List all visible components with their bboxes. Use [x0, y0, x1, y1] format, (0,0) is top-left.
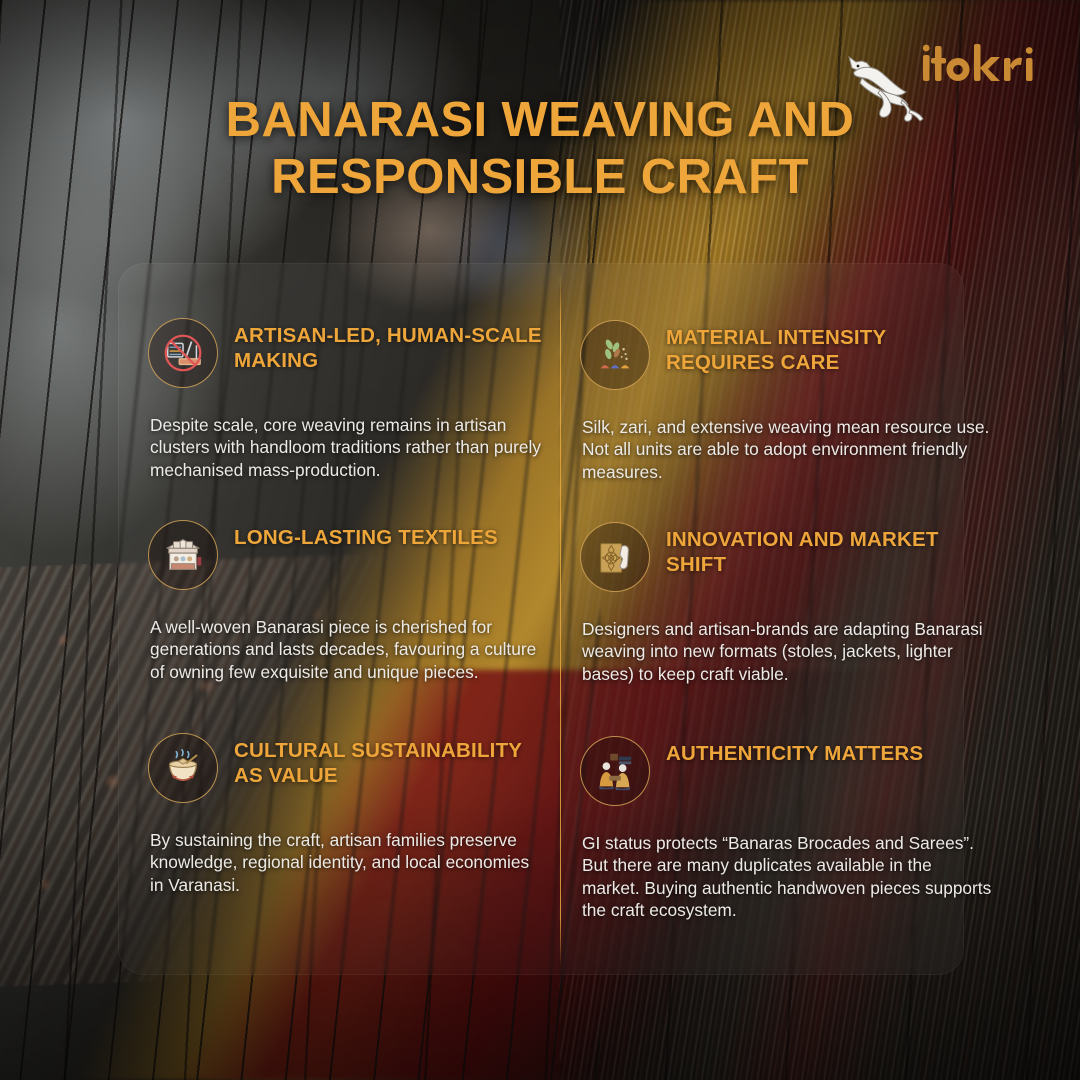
card-title: ARTISAN-LED, HUMAN-SCALE MAKING: [234, 324, 548, 374]
card-title: AUTHENTICITY MATTERS: [666, 742, 923, 767]
card-title: CULTURAL SUSTAINABILITY AS VALUE: [234, 739, 548, 789]
card-authenticity-matters: AUTHENTICITY MATTERS GI status protects …: [580, 736, 992, 922]
card-artisan-led: ARTISAN-LED, HUMAN-SCALE MAKING Despite …: [148, 318, 548, 481]
card-header: LONG-LASTING TEXTILES: [148, 520, 548, 590]
card-innovation-market-shift: INNOVATION AND MARKET SHIFT Designers an…: [580, 522, 992, 685]
card-header: AUTHENTICITY MATTERS: [580, 736, 992, 806]
card-title: LONG-LASTING TEXTILES: [234, 526, 498, 551]
card-body: GI status protects “Banaras Brocades and…: [582, 832, 994, 922]
card-header: MATERIAL INTENSITY REQUIRES CARE: [580, 320, 992, 390]
card-body: Silk, zari, and extensive weaving mean r…: [582, 416, 994, 483]
steaming-dye-pot-icon: [148, 733, 218, 803]
card-header: CULTURAL SUSTAINABILITY AS VALUE: [148, 733, 548, 803]
card-body: Designers and artisan-brands are adaptin…: [582, 618, 994, 685]
card-cultural-sustainability: CULTURAL SUSTAINABILITY AS VALUE By sust…: [148, 733, 548, 896]
infographic-poster: BANARASI WEAVING AND RESPONSIBLE CRAFT: [0, 0, 1080, 1080]
no-machine-loom-icon: [148, 318, 218, 388]
card-body: By sustaining the craft, artisan familie…: [150, 829, 546, 896]
cards-grid: ARTISAN-LED, HUMAN-SCALE MAKING Despite …: [0, 0, 1080, 1080]
card-header: ARTISAN-LED, HUMAN-SCALE MAKING: [148, 318, 548, 388]
card-header: INNOVATION AND MARKET SHIFT: [580, 522, 992, 592]
craft-shop-building-icon: [148, 520, 218, 590]
card-long-lasting-textiles: LONG-LASTING TEXTILES A well-woven Banar…: [148, 520, 548, 683]
leaves-dye-powder-icon: [580, 320, 650, 390]
card-body: Despite scale, core weaving remains in a…: [150, 414, 546, 481]
card-title: INNOVATION AND MARKET SHIFT: [666, 528, 992, 578]
two-artisans-weaving-icon: [580, 736, 650, 806]
card-material-intensity: MATERIAL INTENSITY REQUIRES CARE Silk, z…: [580, 320, 992, 483]
card-title: MATERIAL INTENSITY REQUIRES CARE: [666, 326, 992, 376]
card-body: A well-woven Banarasi piece is cherished…: [150, 616, 546, 683]
hand-holding-brocade-icon: [580, 522, 650, 592]
